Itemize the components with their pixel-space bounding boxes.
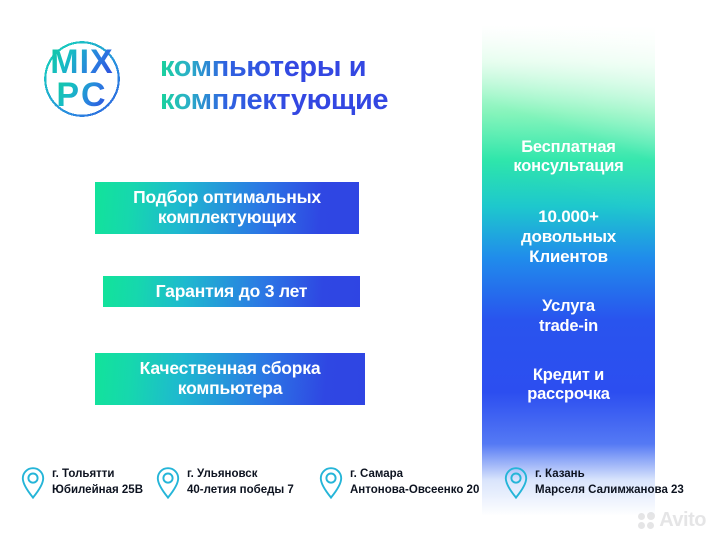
avito-watermark: Avito	[638, 509, 706, 532]
headline-line-2: комплектующие	[160, 84, 460, 117]
location-city: г. Казань	[535, 467, 684, 483]
locations-bar: г. Тольятти Юбилейная 25В г. Ульяновск 4…	[0, 462, 720, 510]
location-item[interactable]: г. Тольятти Юбилейная 25В	[20, 466, 143, 500]
map-pin-icon	[318, 466, 344, 500]
location-text: г. Самара Антонова-Овсеенко 20	[350, 467, 479, 498]
location-item[interactable]: г. Казань Марселя Салимжанова 23	[503, 466, 684, 500]
location-city: г. Самара	[350, 467, 479, 483]
feature-badge-warranty: Гарантия до 3 лет	[103, 276, 360, 307]
promo-item-credit: Кредит и рассрочка	[527, 366, 610, 405]
avito-watermark-text: Avito	[659, 509, 706, 532]
avito-logo-icon	[638, 512, 655, 529]
location-address: Марселя Салимжанова 23	[535, 483, 684, 499]
logo-text: MIX PC	[27, 27, 137, 131]
promo-item-clients: 10.000+ довольных Клиентов	[521, 207, 616, 267]
logo-line-mix: MIX	[50, 46, 113, 79]
location-address: Юбилейная 25В	[52, 483, 143, 499]
promo-item-tradein: Услуга trade-in	[539, 297, 598, 336]
location-text: г. Ульяновск 40-летия победы 7	[187, 467, 294, 498]
location-text: г. Тольятти Юбилейная 25В	[52, 467, 143, 498]
feature-badge-assembly: Качественная сборка компьютера	[95, 353, 365, 405]
location-text: г. Казань Марселя Салимжанова 23	[535, 467, 684, 498]
location-item[interactable]: г. Ульяновск 40-летия победы 7	[155, 466, 294, 500]
promo-item-consultation: Бесплатная консультация	[513, 138, 623, 177]
map-pin-icon	[503, 466, 529, 500]
feature-badge-selection: Подбор оптимальных комплектующих	[95, 182, 359, 234]
location-city: г. Тольятти	[52, 467, 143, 483]
brand-logo: MIX PC	[27, 27, 137, 131]
location-city: г. Ульяновск	[187, 467, 294, 483]
map-pin-icon	[155, 466, 181, 500]
location-address: 40-летия победы 7	[187, 483, 294, 499]
logo-line-pc: PC	[56, 79, 107, 112]
page-title: компьютеры и комплектующие	[160, 51, 460, 117]
location-address: Антонова-Овсеенко 20	[350, 483, 479, 499]
promo-panel-content: Бесплатная консультация 10.000+ довольны…	[482, 0, 655, 516]
location-item[interactable]: г. Самара Антонова-Овсеенко 20	[318, 466, 479, 500]
headline-line-1: компьютеры и	[160, 51, 460, 84]
map-pin-icon	[20, 466, 46, 500]
